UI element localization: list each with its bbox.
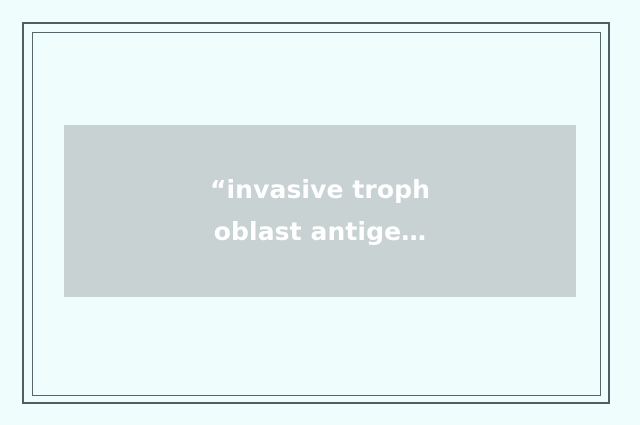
image-placeholder-block[interactable]: “invasive troph oblast antige…	[64, 125, 576, 297]
page-canvas: “invasive troph oblast antige…	[0, 0, 640, 425]
image-placeholder-caption: “invasive troph oblast antige…	[200, 169, 440, 253]
